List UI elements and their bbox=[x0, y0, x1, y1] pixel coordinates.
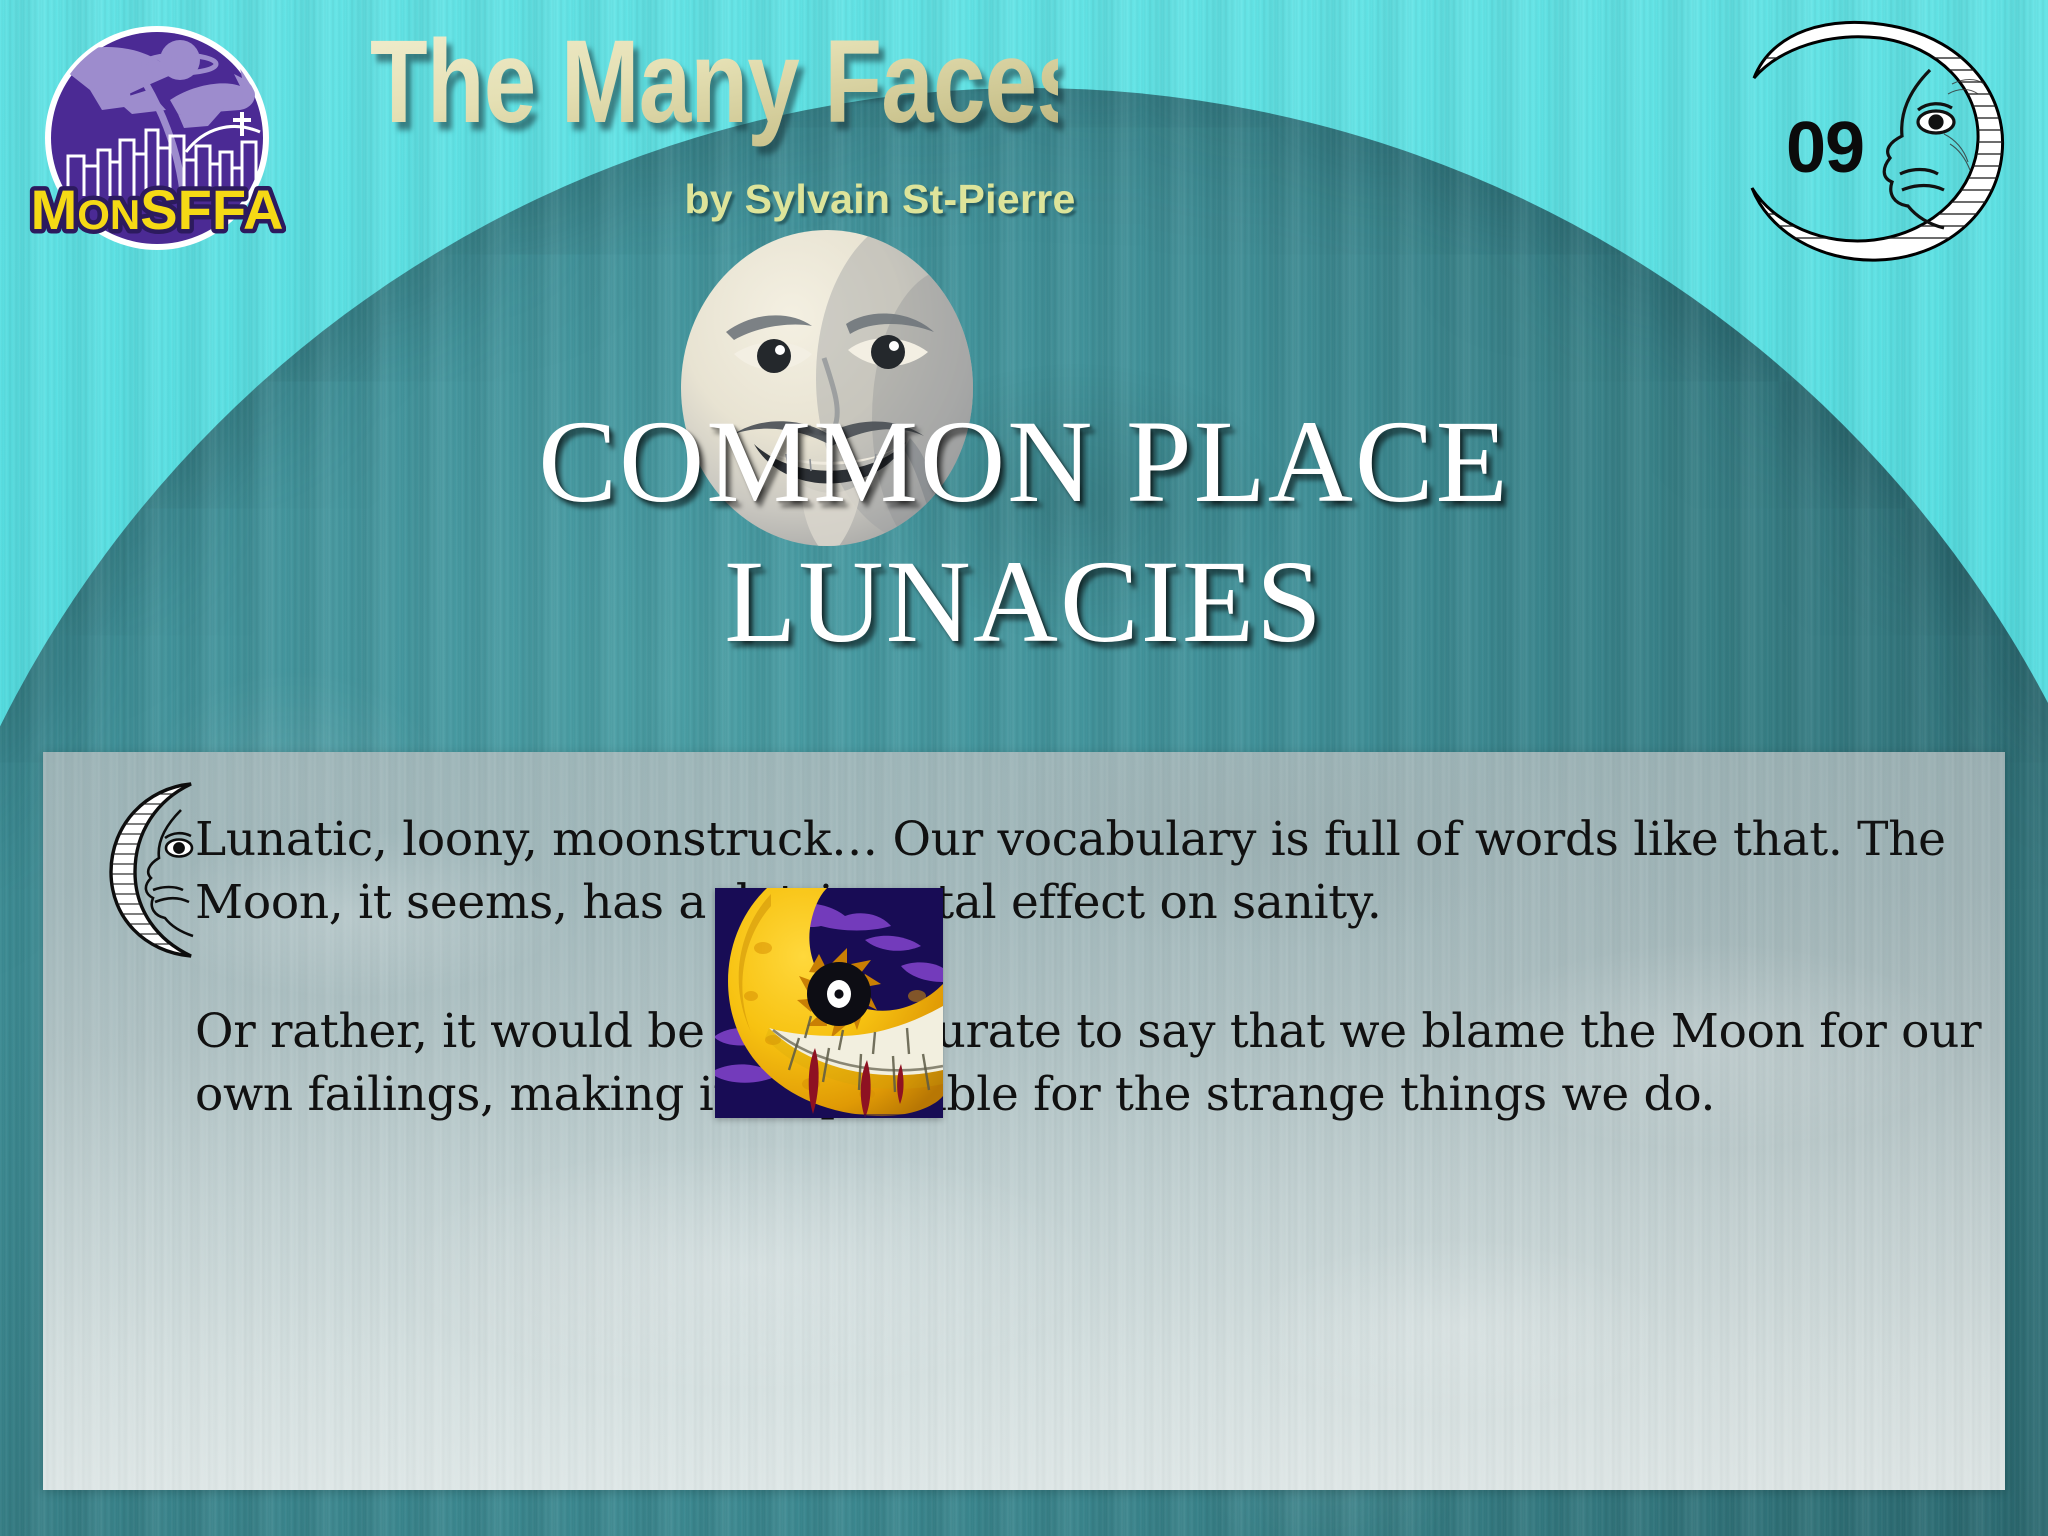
page-title-line-2: LUNACIES bbox=[0, 532, 2048, 672]
deck-title: The Many Faces of the Moon bbox=[370, 8, 1058, 158]
page-title-line-1: COMMON PLACE bbox=[538, 396, 1509, 527]
body-paragraph-1: Lunatic, loony, moonstruck… Our vocabula… bbox=[195, 808, 1985, 934]
presentation-slide: MONSFFA MONSFFA The Many Faces of the Mo… bbox=[0, 0, 2048, 1536]
deck-byline: by Sylvain St-Pierre bbox=[640, 176, 1120, 223]
monsffa-logo-icon: MONSFFA MONSFFA bbox=[28, 14, 286, 272]
page-title: COMMON PLACE LUNACIES bbox=[0, 392, 2048, 672]
body-text: Lunatic, loony, moonstruck… Our vocabula… bbox=[195, 808, 1985, 1126]
content-panel: Lunatic, loony, moonstruck… Our vocabula… bbox=[43, 752, 2005, 1490]
slide-number: 09 bbox=[1760, 112, 1890, 184]
grinning-cartoon-moon-icon bbox=[715, 888, 943, 1118]
body-paragraph-2: Or rather, it would be more accurate to … bbox=[195, 1000, 1985, 1126]
slide-number-group: 09 bbox=[1732, 18, 2032, 268]
svg-text:MONSFFA: MONSFFA bbox=[31, 178, 284, 241]
